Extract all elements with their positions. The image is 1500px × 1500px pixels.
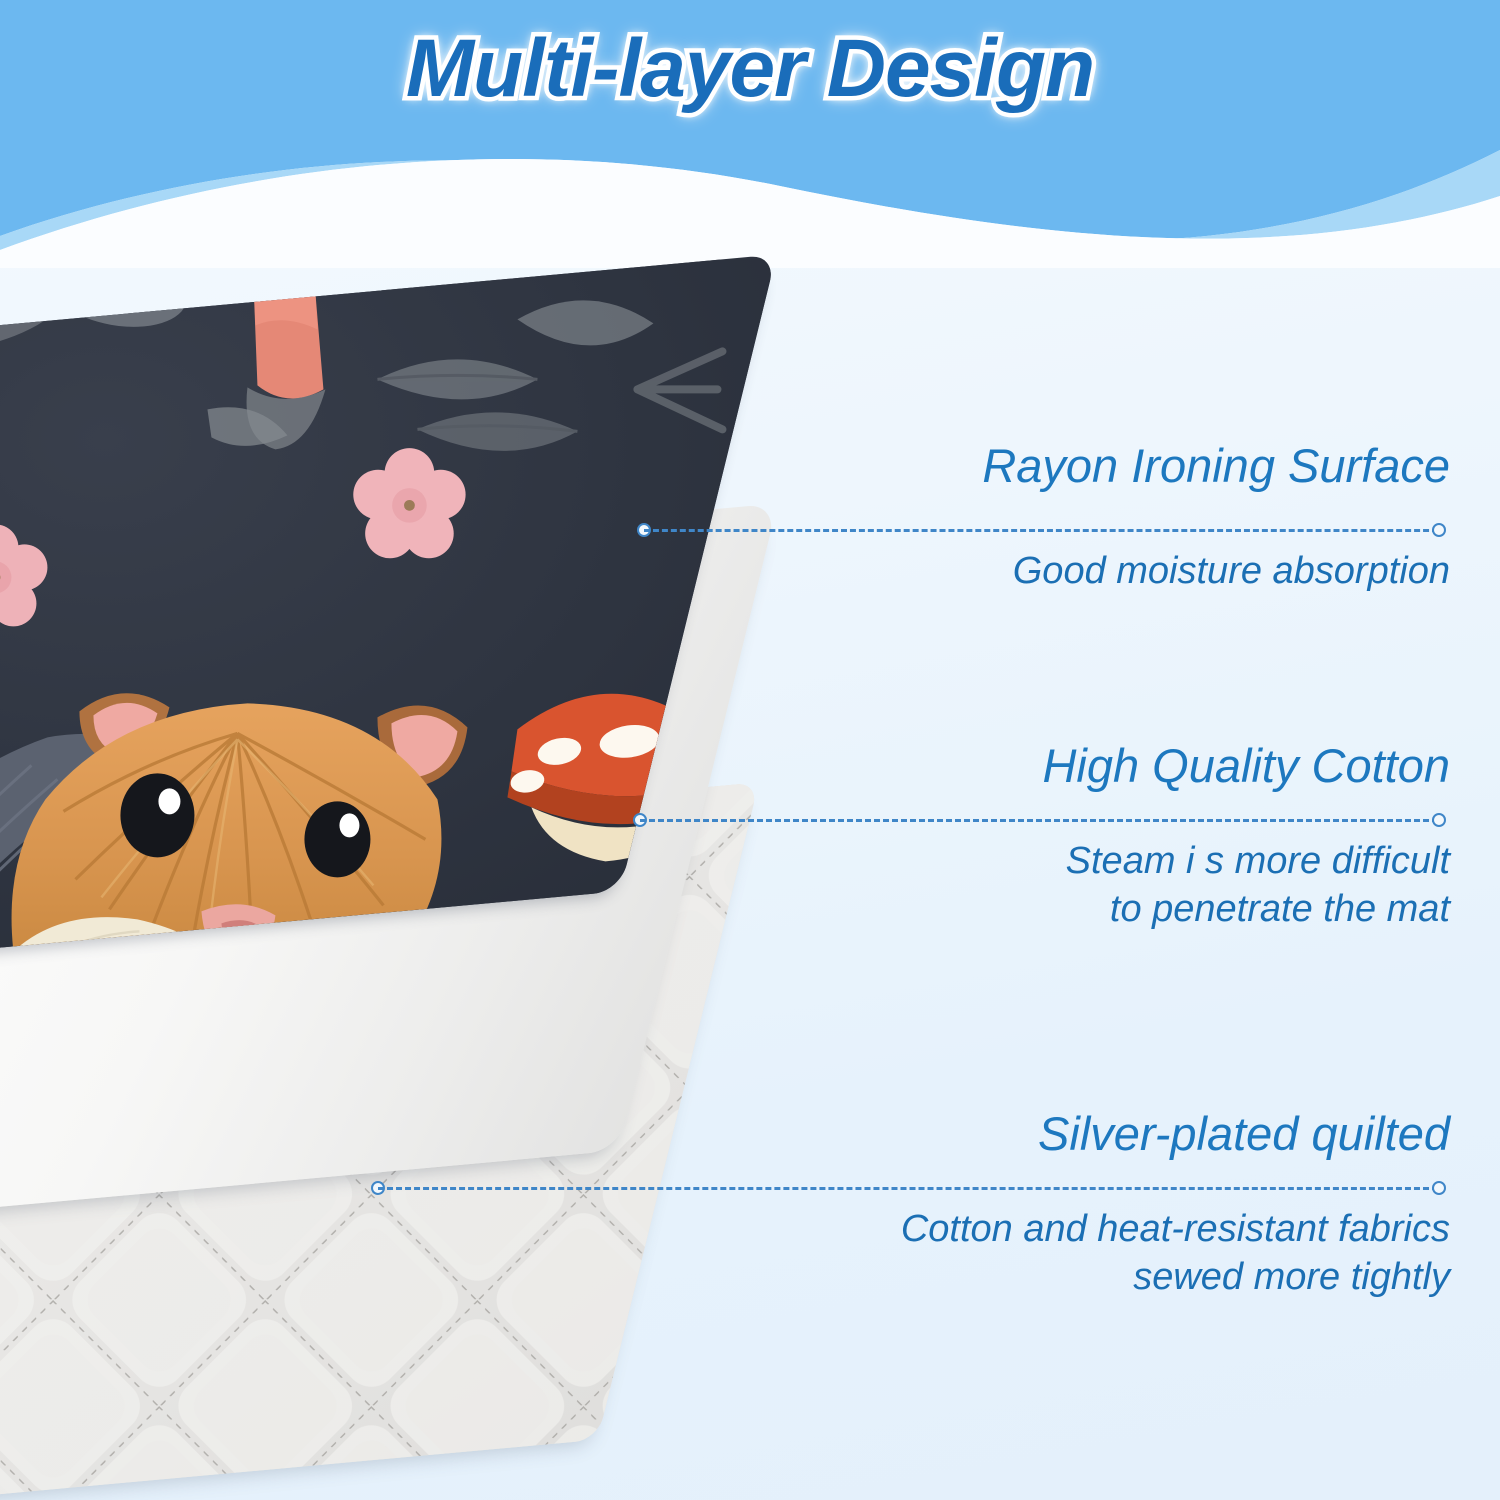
guinea-pig-eye-left	[120, 773, 194, 857]
callout-cotton-title: High Quality Cotton	[790, 740, 1450, 792]
leader-line-silver	[378, 1178, 1438, 1198]
leader-dash-cotton	[640, 819, 1438, 822]
leader-dot-end-rayon	[1432, 523, 1446, 537]
page-title: Multi-layer Design	[0, 22, 1500, 116]
header-banner: Multi-layer Design	[0, 0, 1500, 268]
callout-silver-sub-wrap: Cotton and heat-resistant fabrics sewed …	[660, 1206, 1450, 1301]
product-layer-stack	[0, 300, 880, 1480]
leader-line-rayon	[644, 520, 1438, 540]
leader-dash-rayon	[644, 529, 1438, 532]
leader-dash-silver	[378, 1187, 1438, 1190]
callout-rayon: Rayon Ironing Surface	[790, 440, 1450, 492]
leader-line-cotton	[640, 810, 1438, 830]
callout-cotton: High Quality Cotton	[790, 740, 1450, 792]
callout-silver-subtitle: Cotton and heat-resistant fabrics sewed …	[660, 1206, 1450, 1301]
callout-rayon-title: Rayon Ironing Surface	[790, 440, 1450, 492]
leader-dot-end-cotton	[1432, 813, 1446, 827]
callout-rayon-sub-wrap: Good moisture absorption	[790, 548, 1450, 596]
callout-rayon-subtitle: Good moisture absorption	[790, 548, 1450, 596]
callout-silver-title: Silver-plated quilted	[790, 1108, 1450, 1160]
callout-cotton-sub-wrap: Steam i s more difficult to penetrate th…	[790, 838, 1450, 933]
guinea-pig-eye-right	[304, 801, 370, 877]
infographic-page: Multi-layer Design	[0, 0, 1500, 1500]
callout-silver: Silver-plated quilted	[790, 1108, 1450, 1160]
leader-dot-end-silver	[1432, 1181, 1446, 1195]
callout-cotton-subtitle: Steam i s more difficult to penetrate th…	[790, 838, 1450, 933]
